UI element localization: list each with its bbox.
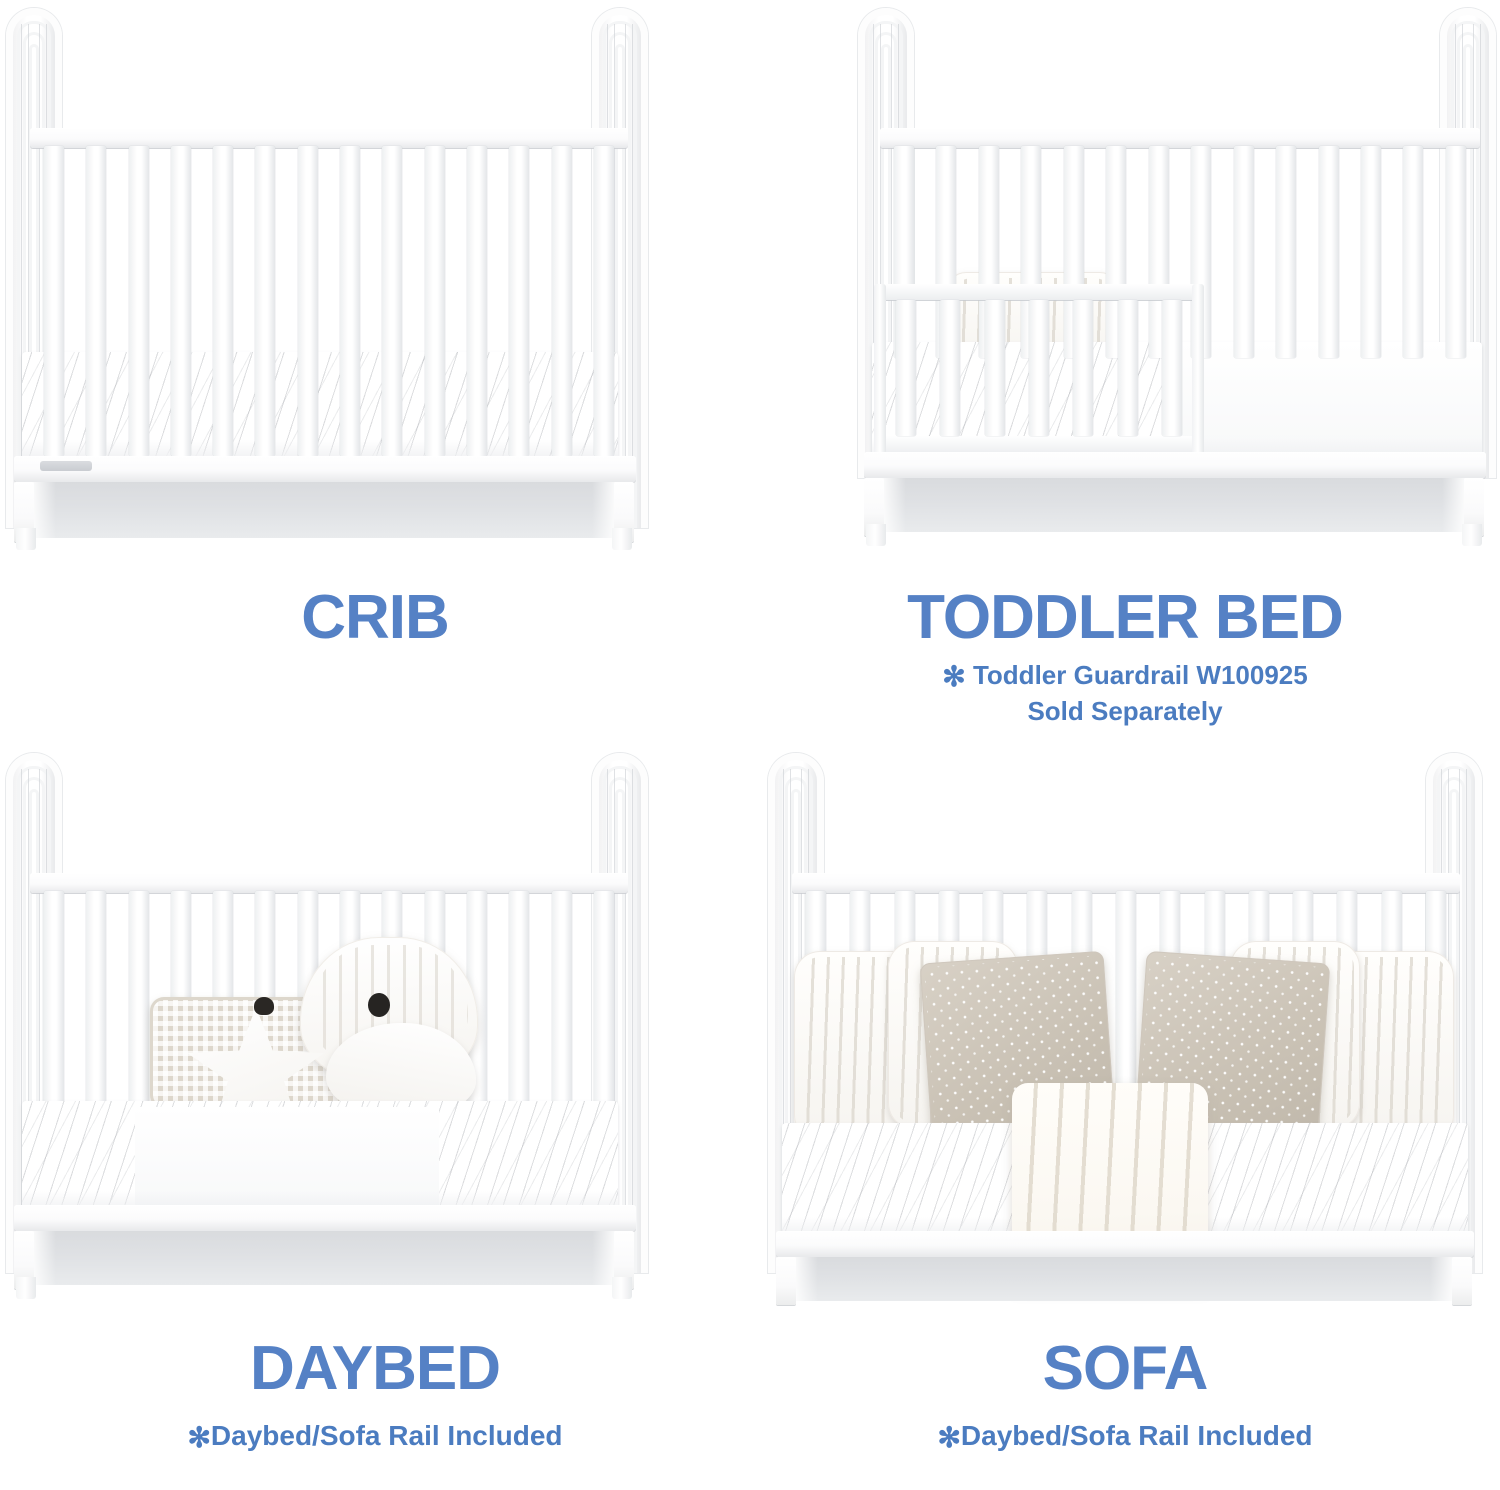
daybed-plush-eye [368, 993, 390, 1017]
asterisk-icon: ✻ [937, 1422, 960, 1453]
panel-toddler-bed: TODDLER BED ✻ Toddler Guardrail W100925 … [750, 0, 1500, 745]
crib-title: CRIB [0, 586, 750, 649]
toddler-leg-right [1462, 524, 1482, 546]
sofa-illustration [750, 745, 1500, 1325]
crib-top-rail [30, 128, 628, 148]
toddler-bed-note-line2: Sold Separately [1027, 696, 1222, 726]
daybed-bottom-rail [14, 1205, 636, 1231]
daybed-note-line1: Daybed/Sofa Rail Included [211, 1420, 563, 1451]
crib-slats [44, 146, 614, 456]
panel-crib: CRIB [0, 0, 750, 745]
daybed-base-recess [30, 1231, 618, 1285]
toddler-guardrail [874, 284, 1204, 454]
crib-hardware-badge [40, 461, 92, 471]
toddler-bed-note: ✻ Toddler Guardrail W100925 Sold Separat… [750, 659, 1500, 728]
daybed-leg-left [16, 1277, 36, 1299]
daybed-leg-right [612, 1277, 632, 1299]
sofa-base-apron-right [1452, 1257, 1472, 1305]
daybed-title: DAYBED [0, 1337, 750, 1400]
crib-caption: CRIB [0, 586, 750, 649]
toddler-leg-left [866, 524, 886, 546]
toddler-bed-caption: TODDLER BED ✻ Toddler Guardrail W100925 … [750, 586, 1500, 728]
asterisk-icon: ✻ [187, 1422, 210, 1453]
toddler-back-rail [880, 128, 1480, 148]
daybed-note: ✻Daybed/Sofa Rail Included [0, 1418, 750, 1456]
toddler-bed-illustration [750, 0, 1500, 580]
sofa-bottom-rail [776, 1231, 1474, 1257]
sofa-note: ✻Daybed/Sofa Rail Included [750, 1418, 1500, 1456]
crib-leg-left [16, 528, 36, 550]
asterisk-icon: ✻ [942, 661, 965, 692]
toddler-bed-note-line1: Toddler Guardrail W100925 [973, 660, 1308, 690]
sofa-base-apron-left [776, 1257, 796, 1305]
toddler-bed-title: TODDLER BED [750, 586, 1500, 649]
daybed-back-rail [30, 873, 628, 893]
panel-daybed: DAYBED ✻Daybed/Sofa Rail Included [0, 745, 750, 1490]
sofa-title: SOFA [750, 1337, 1500, 1400]
panel-sofa: SOFA ✻Daybed/Sofa Rail Included [750, 745, 1500, 1490]
daybed-caption: DAYBED ✻Daybed/Sofa Rail Included [0, 1337, 750, 1456]
daybed-illustration [0, 745, 750, 1325]
sofa-note-line1: Daybed/Sofa Rail Included [961, 1420, 1313, 1451]
daybed-mattress [22, 1101, 618, 1213]
sofa-base-recess [792, 1257, 1456, 1301]
toddler-base-recess [880, 478, 1468, 532]
toddler-bottom-rail [864, 452, 1486, 478]
daybed-plush-star-nub [254, 997, 274, 1015]
crib-illustration [0, 0, 750, 580]
sofa-caption: SOFA ✻Daybed/Sofa Rail Included [750, 1337, 1500, 1456]
conversion-infographic: CRIB [0, 0, 1500, 1490]
crib-leg-right [612, 528, 632, 550]
crib-base-recess [30, 482, 618, 538]
crib-bottom-rail [14, 456, 636, 482]
sofa-back-rail [792, 873, 1460, 893]
